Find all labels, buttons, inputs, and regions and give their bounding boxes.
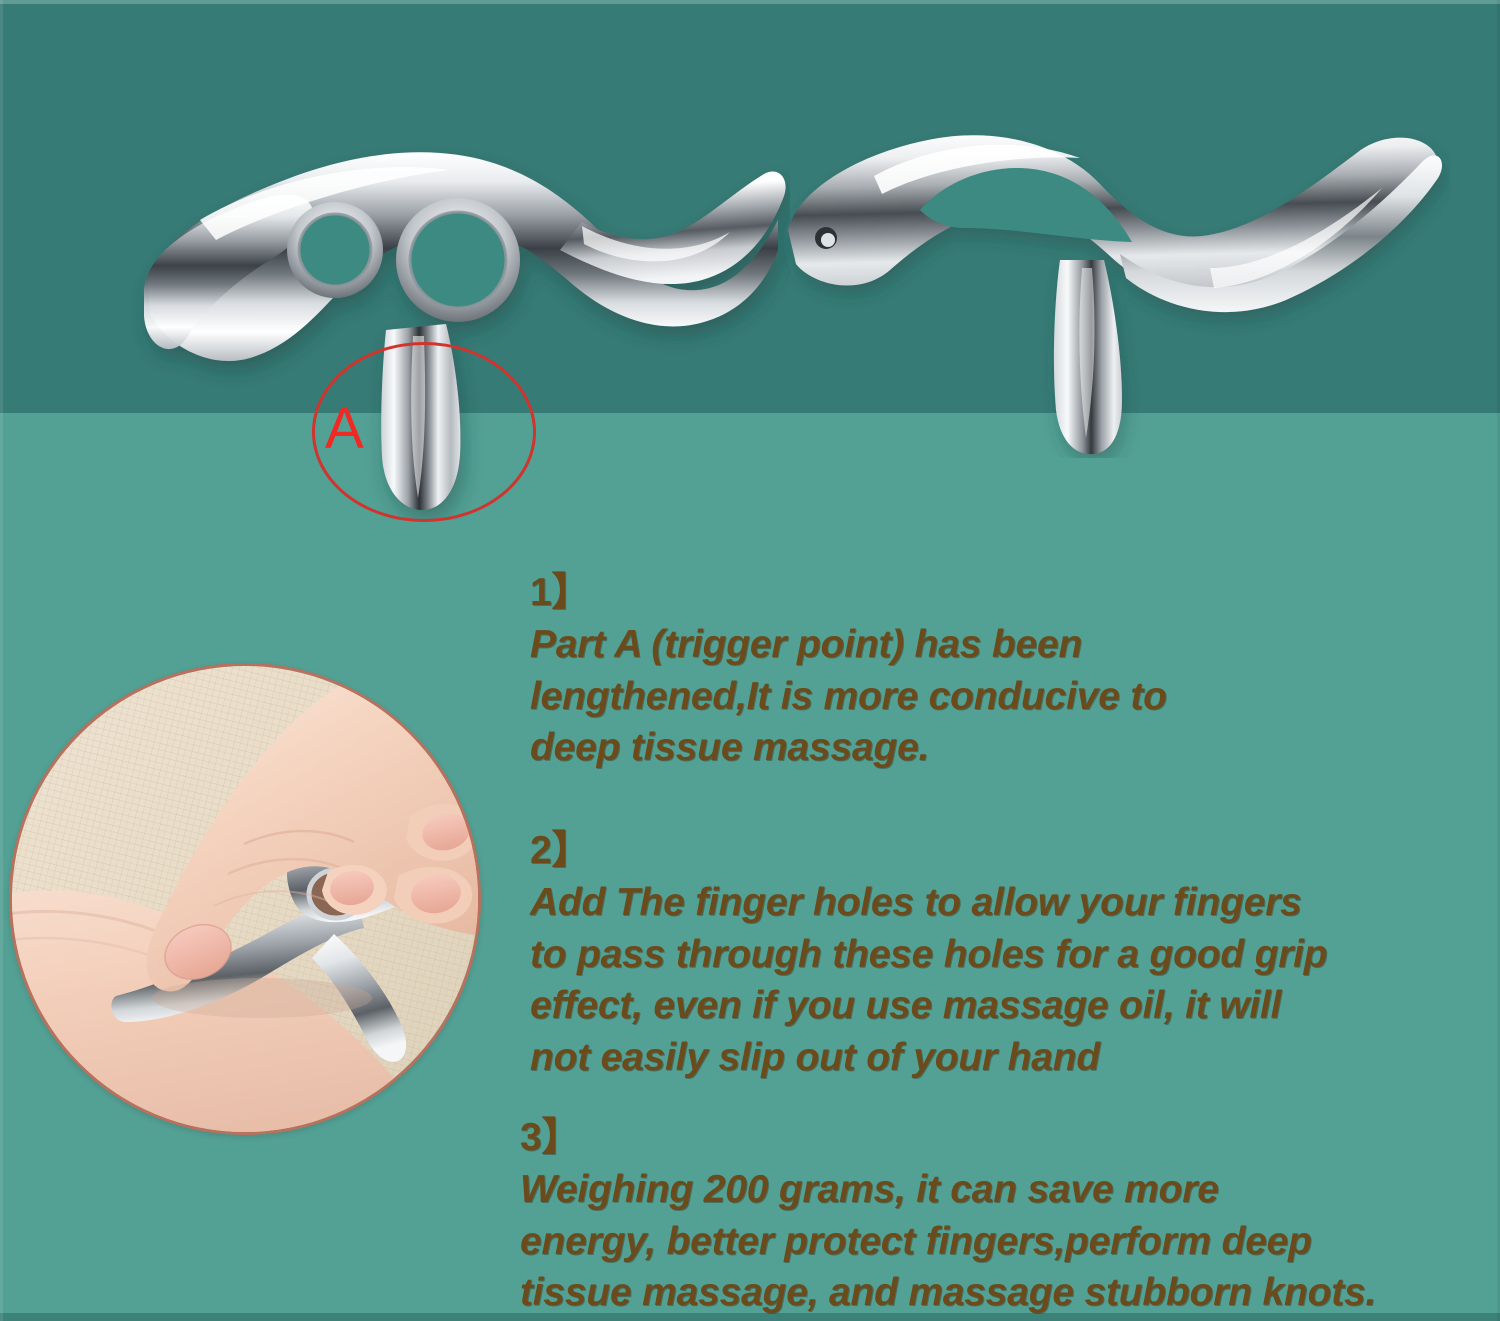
left-edge-highlight bbox=[0, 0, 3, 1321]
feature-text-1: Part A (trigger point) has been lengthen… bbox=[530, 623, 1167, 770]
feature-marker-2: 2】 bbox=[530, 829, 590, 872]
feature-text-2: Add The finger holes to allow your finge… bbox=[530, 881, 1327, 1080]
feature-item-3: 3】 Weighing 200 grams, it can save more … bbox=[520, 1060, 1470, 1319]
massage-tool-side-view bbox=[770, 118, 1450, 458]
photo-content bbox=[12, 666, 478, 1132]
annotation-label-a: A bbox=[325, 400, 364, 458]
feature-item-2: 2】 Add The finger holes to allow your fi… bbox=[530, 773, 1490, 1084]
hand-gripping-tool-photo bbox=[9, 663, 481, 1135]
feature-marker-3: 3】 bbox=[520, 1116, 580, 1159]
top-edge-highlight bbox=[0, 0, 1500, 4]
product-infographic-page: A bbox=[0, 0, 1500, 1321]
feature-text-3: Weighing 200 grams, it can save more ene… bbox=[520, 1168, 1376, 1315]
tool-side-body bbox=[788, 135, 1442, 454]
feature-marker-1: 1】 bbox=[530, 571, 590, 614]
feature-item-1: 1】 Part A (trigger point) has been lengt… bbox=[530, 515, 1330, 774]
